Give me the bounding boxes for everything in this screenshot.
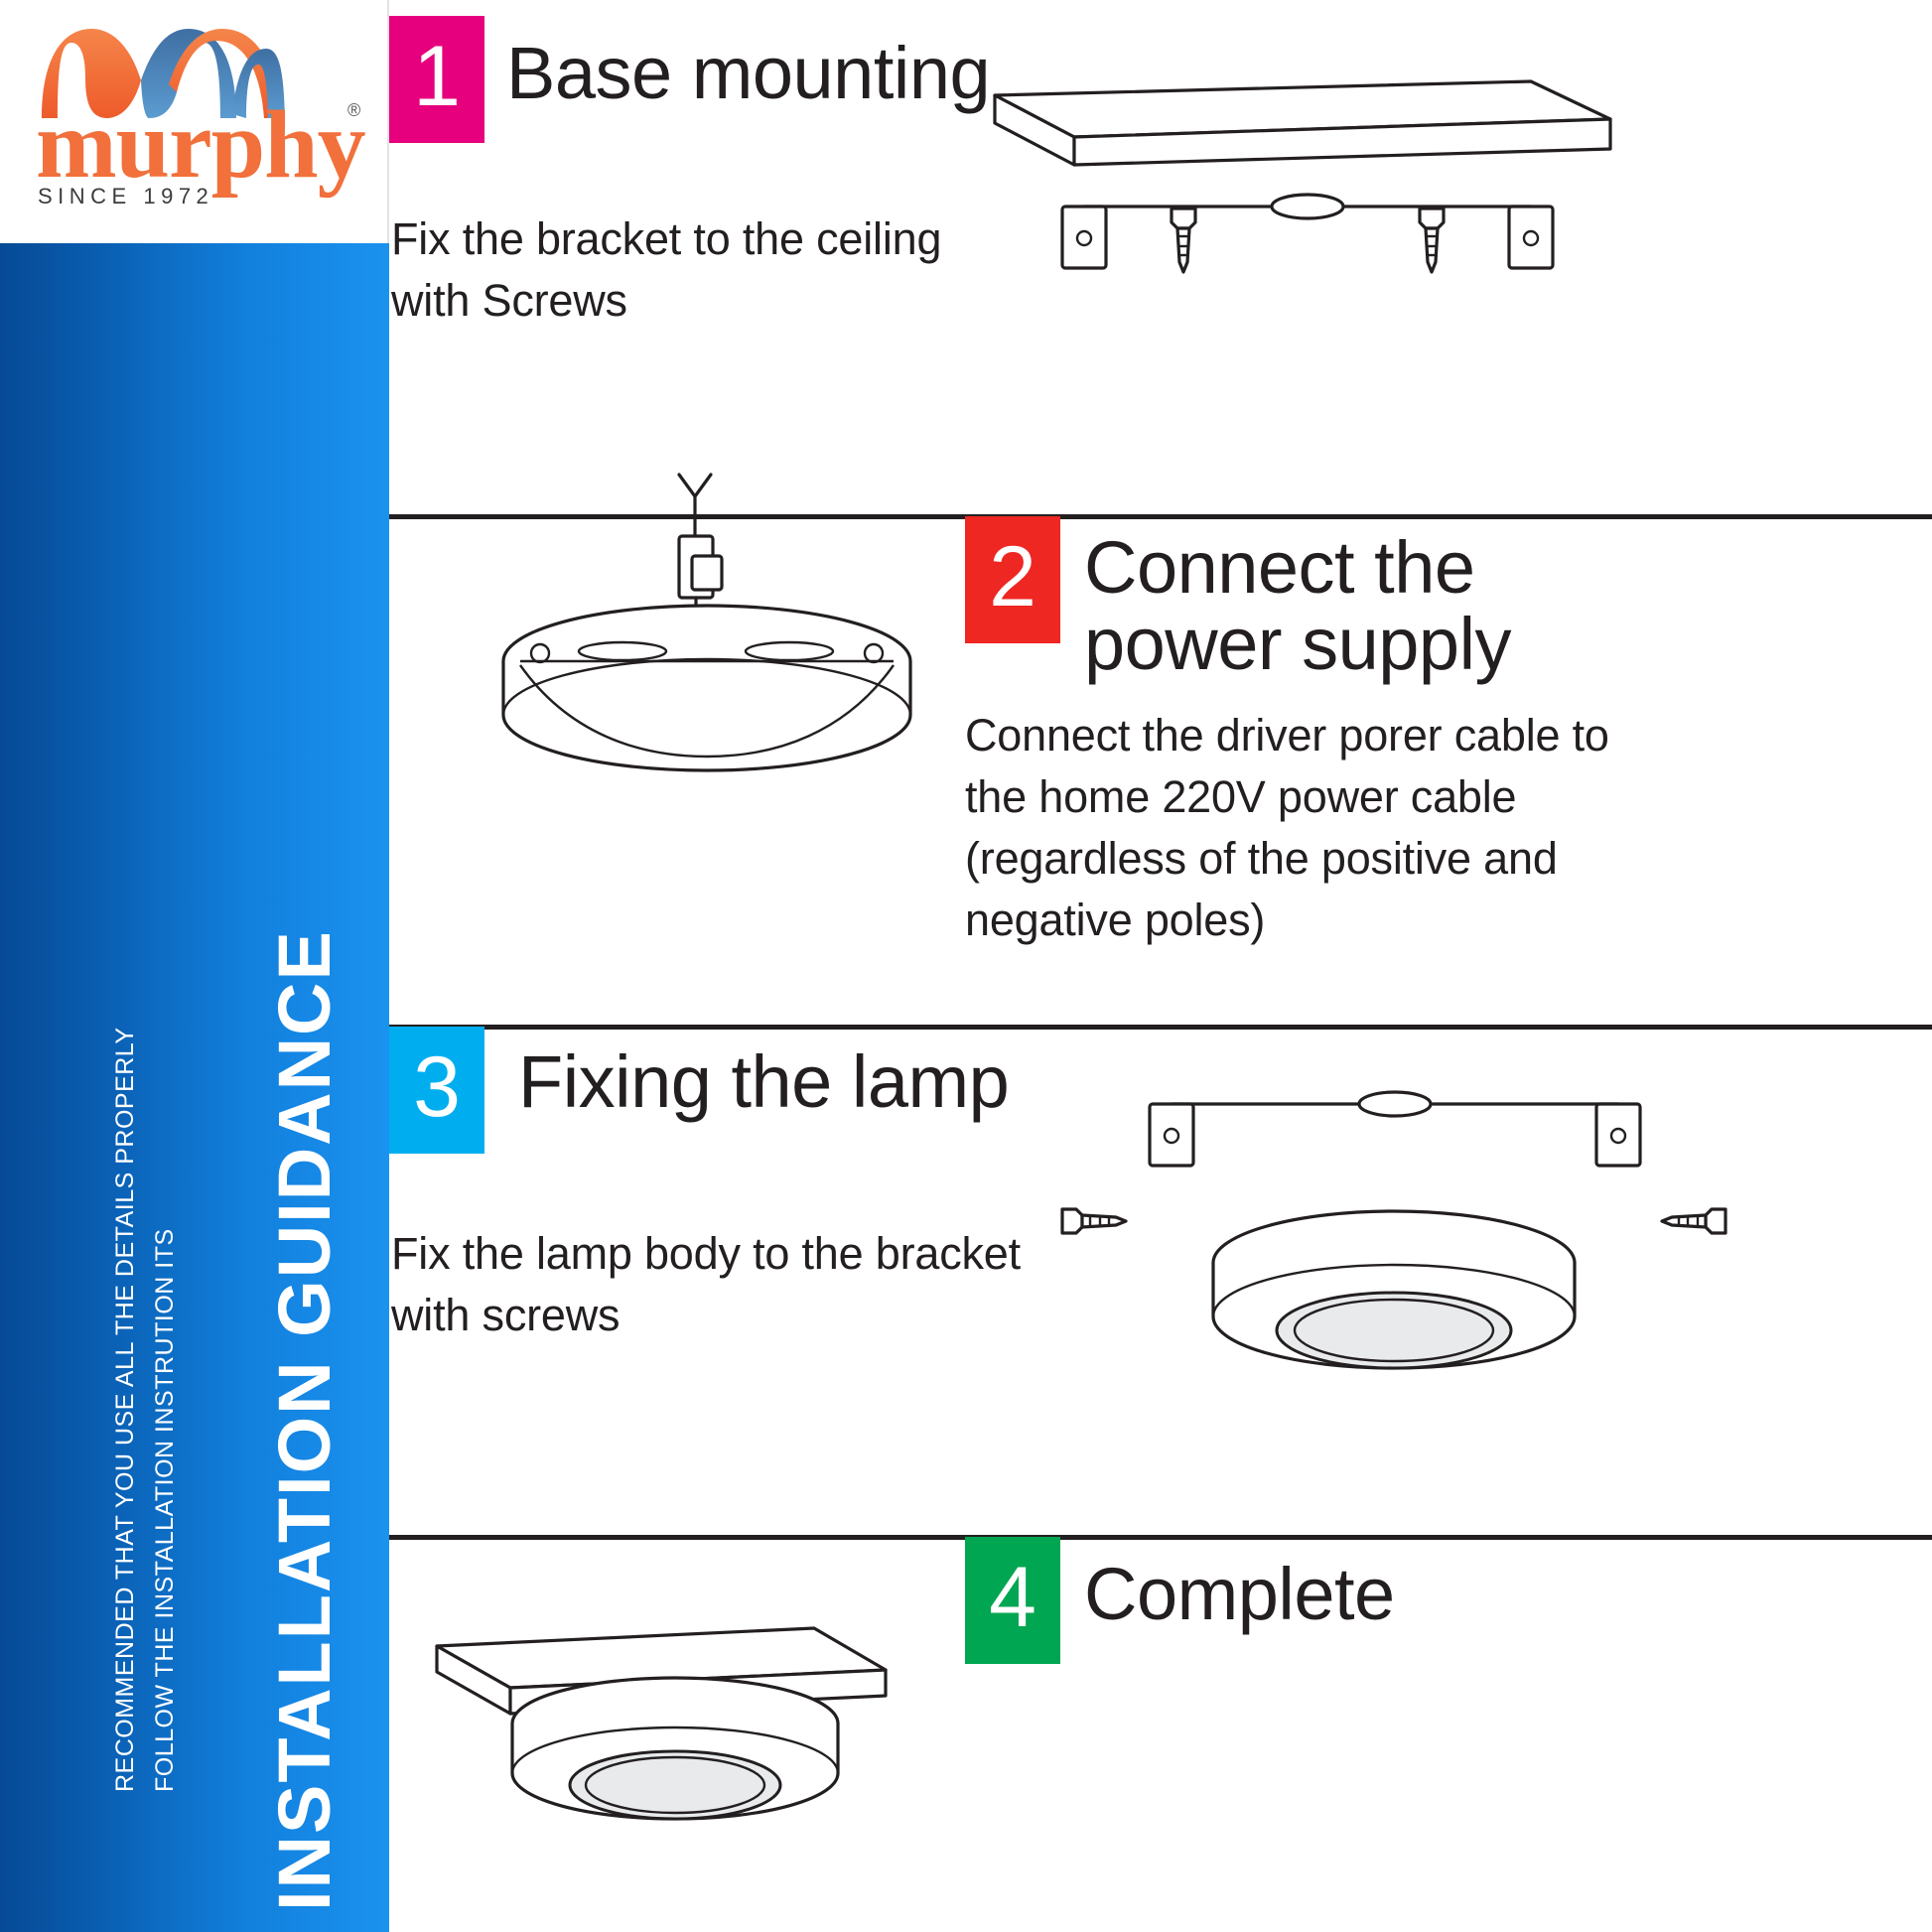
step-2-badge: 2 <box>965 516 1060 643</box>
step-1-number: 1 <box>413 34 461 119</box>
screw-left-icon <box>1172 208 1195 272</box>
installation-guidance-poster: murphy ® SINCE 1972 INSTALLATION GUIDANC… <box>0 0 1932 1932</box>
steps-area: 1 Base mounting Fix the bracket to the c… <box>389 0 1932 1932</box>
completed-ceiling-mounted-lamp-icon <box>419 1585 935 1912</box>
step-3-badge: 3 <box>389 1027 484 1154</box>
screw-right-icon <box>1420 208 1444 272</box>
sidebar-title: INSTALLATION GUIDANCE <box>268 929 342 1911</box>
step-2-illustration <box>459 467 975 814</box>
divider-rule-2 <box>389 1025 1932 1030</box>
ceiling-plate-and-bracket-with-screws-icon <box>975 58 1660 316</box>
step-4-illustration <box>419 1585 935 1912</box>
divider-rule-3 <box>389 1535 1932 1540</box>
step-4-badge: 4 <box>965 1537 1060 1664</box>
sidebar-gradient-band: INSTALLATION GUIDANCE FOLLOW THE INSTALL… <box>0 243 389 1932</box>
brand-tagline: SINCE 1972 <box>38 184 213 209</box>
step-3-illustration <box>1044 1082 1739 1479</box>
brand-name: murphy <box>36 96 365 194</box>
bracket-above-round-lamp-with-screws-icon <box>1044 1082 1739 1479</box>
step-1-badge: 1 <box>389 16 484 143</box>
step-4-number: 4 <box>989 1555 1036 1640</box>
step-1-illustration <box>975 58 1660 316</box>
screw-left-side-icon <box>1062 1209 1126 1233</box>
step-3-number: 3 <box>413 1044 461 1130</box>
sidebar: murphy ® SINCE 1972 INSTALLATION GUIDANC… <box>0 0 389 1932</box>
step-2-body: Connect the driver porer cable to the ho… <box>965 705 1650 951</box>
lamp-body-with-driver-cable-icon <box>459 467 975 814</box>
screw-right-side-icon <box>1662 1209 1725 1233</box>
registered-mark-icon: ® <box>347 100 360 121</box>
step-1-body: Fix the bracket to the ceiling with Scre… <box>391 208 1027 332</box>
sidebar-subtitle-line2: RECOMMENDED THAT YOU USE ALL THE DETAILS… <box>111 1027 140 1792</box>
sidebar-subtitle-line1: FOLLOW THE INSTALLATION INSTRUTION ITS <box>151 1228 180 1792</box>
step-3-body: Fix the lamp body to the bracket with sc… <box>391 1223 1046 1346</box>
step-2-title: Connect the power supply <box>1084 530 1640 683</box>
brand-logo-block: murphy ® SINCE 1972 <box>0 0 389 243</box>
step-2-number: 2 <box>989 534 1036 620</box>
step-4-title: Complete <box>1084 1557 1680 1633</box>
